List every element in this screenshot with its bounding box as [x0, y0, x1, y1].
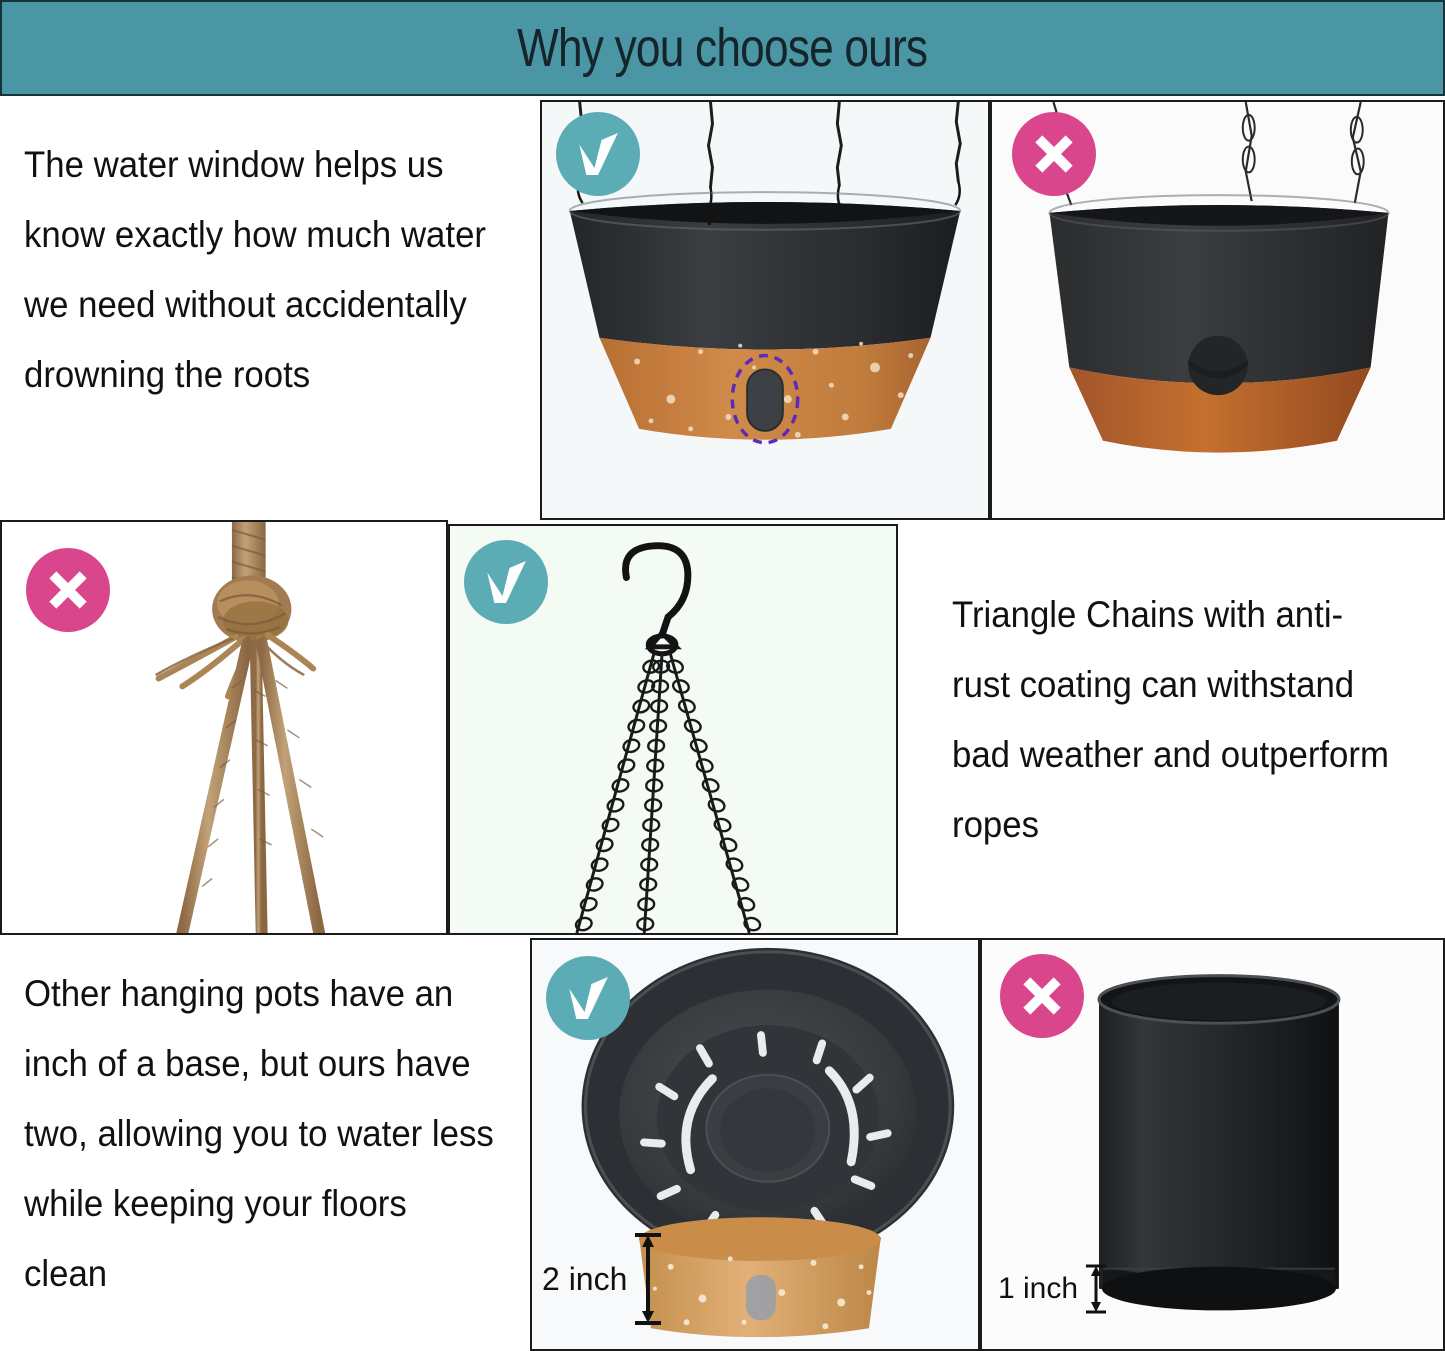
- badge-cross-competitor-base: [1000, 954, 1084, 1038]
- panel-competitor-pot: [990, 100, 1445, 520]
- page-title: Why you choose ours: [517, 17, 927, 79]
- panel-water-window-pot: [540, 100, 990, 520]
- panel-water-window-text: The water window helps us know exactly h…: [0, 96, 540, 520]
- badge-cross-rope: [26, 548, 110, 632]
- measurement-theirs: 1 inch: [998, 1263, 1108, 1315]
- panel-base-depth-text: Other hanging pots have an inch of a bas…: [0, 935, 530, 1351]
- check-icon: [478, 554, 534, 610]
- measurement-theirs-label: 1 inch: [998, 1274, 1078, 1304]
- infographic-page: Why you choose ours The water window hel…: [0, 0, 1445, 1351]
- dimension-arrow-2inch: [633, 1231, 663, 1327]
- chain-paragraph: Triangle Chains with anti-rust coating c…: [952, 580, 1394, 860]
- panel-chain-text: Triangle Chains with anti-rust coating c…: [900, 524, 1445, 935]
- badge-check-our-base: [546, 956, 630, 1040]
- cross-icon: [1014, 968, 1070, 1024]
- badge-cross-competitor-pot: [1012, 112, 1096, 196]
- measurement-ours-label: 2 inch: [542, 1263, 627, 1295]
- base-depth-paragraph: Other hanging pots have an inch of a bas…: [24, 959, 494, 1309]
- water-window-port: [747, 369, 783, 430]
- water-window-paragraph: The water window helps us know exactly h…: [24, 130, 494, 410]
- check-icon: [560, 970, 616, 1026]
- badge-check-chain: [464, 540, 548, 624]
- panel-chain-hanger: [448, 524, 898, 935]
- dimension-arrow-1inch: [1084, 1263, 1108, 1315]
- cross-icon: [40, 562, 96, 618]
- cross-icon: [1026, 126, 1082, 182]
- panel-rope-hanger: [0, 520, 448, 935]
- check-icon: [570, 126, 626, 182]
- measurement-ours: 2 inch: [542, 1231, 663, 1327]
- badge-check-water-window: [556, 112, 640, 196]
- header-banner: Why you choose ours: [0, 0, 1445, 96]
- panel-our-pot-base: 2 inch: [530, 938, 980, 1351]
- panel-competitor-pot-base: 1 inch: [980, 938, 1445, 1351]
